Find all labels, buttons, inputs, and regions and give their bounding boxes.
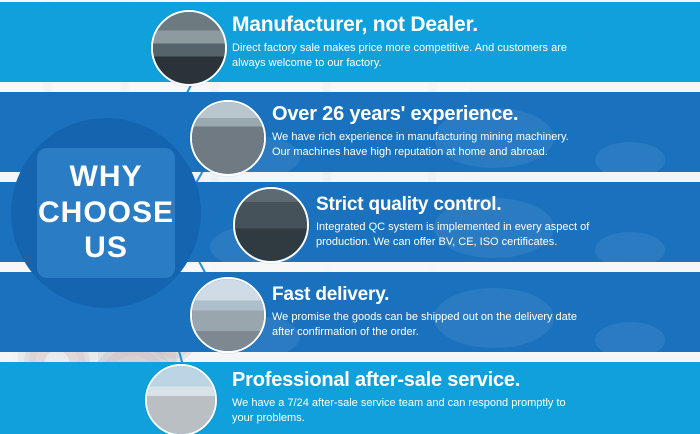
- service-team-photo: [145, 364, 217, 434]
- feature-text-5: Professional after-sale service.We have …: [232, 370, 580, 425]
- thumbnail-image-3: [235, 189, 307, 261]
- feature-title-4: Fast delivery.: [272, 285, 577, 305]
- thumbnail-image-4: [192, 279, 264, 351]
- infographic-canvas: Manufacturer, not Dealer.Direct factory …: [0, 0, 700, 434]
- panel-map-texture: [595, 232, 665, 268]
- feature-text-1: Manufacturer, not Dealer.Direct factory …: [232, 14, 581, 71]
- feature-panel-5[interactable]: Professional after-sale service.We have …: [0, 362, 700, 434]
- feature-desc-1-line2: always welcome to our factory.: [232, 56, 567, 71]
- feature-desc-4-line1: We promise the goods can be shipped out …: [272, 310, 577, 325]
- thumbnail-image-1: [153, 12, 225, 84]
- feature-desc-5-line2: your problems.: [232, 411, 566, 426]
- feature-desc-3-line1: Integrated QC system is implemented in e…: [316, 220, 589, 235]
- qc-inspection-photo: [233, 187, 309, 263]
- workers-red-helmets-photo: [190, 100, 266, 176]
- factory-workshop-photo: [151, 10, 227, 86]
- feature-desc-2-line2: Our machines have high reputation at hom…: [272, 145, 569, 160]
- thumbnail-image-5: [147, 366, 215, 434]
- why-line-3: US: [84, 233, 128, 264]
- thumbnail-image-2: [192, 102, 264, 174]
- why-line-1: WHY: [70, 162, 143, 193]
- feature-desc-5-line1: We have a 7/24 after-sale service team a…: [232, 396, 566, 411]
- feature-title-3: Strict quality control.: [316, 195, 589, 215]
- feature-title-1: Manufacturer, not Dealer.: [232, 14, 567, 36]
- delivery-trucks-photo: [190, 277, 266, 353]
- why-line-2: CHOOSE: [38, 198, 174, 229]
- feature-desc-2-line1: We have rich experience in manufacturing…: [272, 130, 569, 145]
- feature-desc-3-line2: production. We can offer BV, CE, ISO cer…: [316, 235, 589, 250]
- feature-text-3: Strict quality control.Integrated QC sys…: [316, 195, 603, 249]
- feature-title-2: Over 26 years' experience.: [272, 104, 569, 125]
- feature-desc-4-line2: after confirmation of the order.: [272, 325, 577, 340]
- feature-title-5: Professional after-sale service.: [232, 370, 566, 391]
- feature-text-4: Fast delivery.We promise the goods can b…: [272, 285, 591, 339]
- panel-map-texture: [595, 322, 665, 358]
- feature-panel-1[interactable]: Manufacturer, not Dealer.Direct factory …: [0, 2, 700, 82]
- feature-desc-1-line1: Direct factory sale makes price more com…: [232, 41, 567, 56]
- panel-map-texture: [595, 142, 665, 178]
- why-choose-us-circle: WHY CHOOSE US: [11, 118, 201, 308]
- feature-text-2: Over 26 years' experience.We have rich e…: [272, 104, 583, 159]
